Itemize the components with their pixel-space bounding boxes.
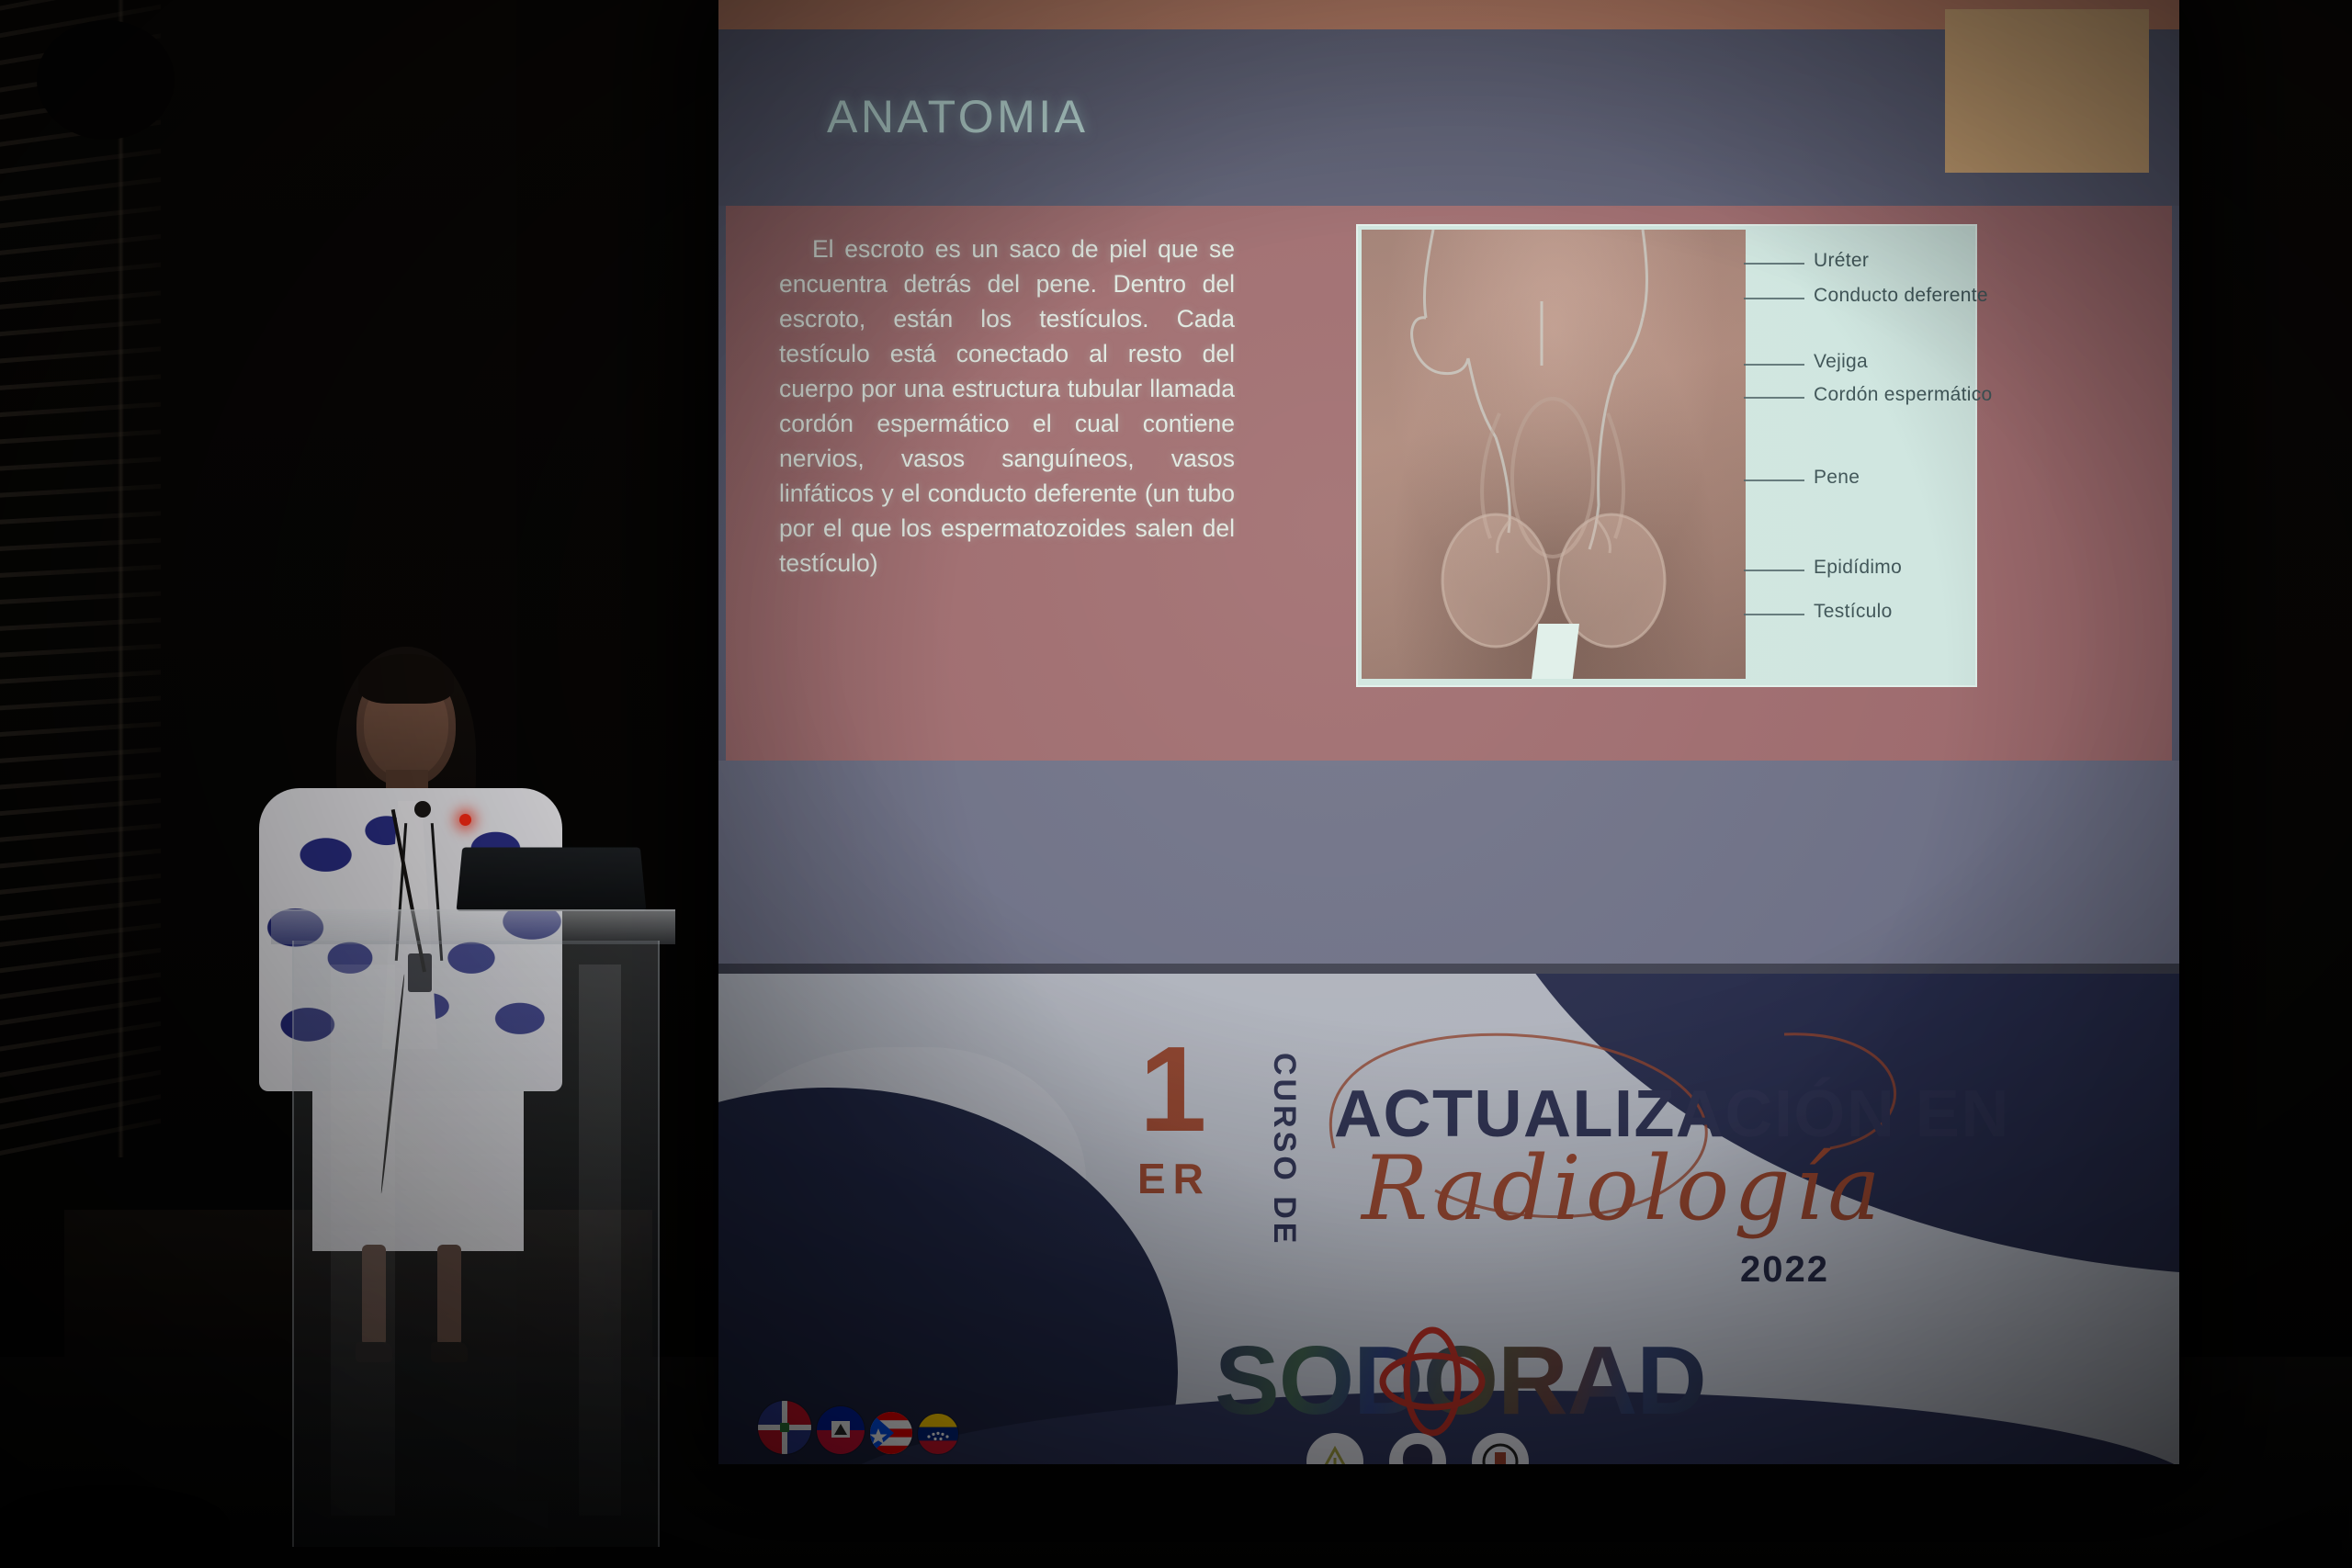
anatomy-label-epididimo: Epidídimo — [1814, 557, 1902, 579]
wall-slat — [0, 892, 161, 927]
wall-slat — [0, 794, 161, 820]
slide-lower-band — [718, 761, 2179, 964]
podium-top-surface — [271, 909, 675, 944]
ordinal-suffix: ER — [1137, 1154, 1211, 1203]
wall-slat — [0, 916, 161, 953]
crest-emblem-badge — [1389, 1433, 1446, 1464]
wall-slat — [0, 199, 161, 234]
wall-slat — [0, 480, 161, 501]
haiti-flag — [816, 1405, 865, 1455]
venezuela-flag — [917, 1413, 959, 1455]
audience-head — [37, 20, 175, 140]
wall-slat — [0, 640, 161, 660]
wall-slat — [0, 535, 161, 554]
anatomy-line-art — [1362, 230, 1746, 679]
wall-slat — [0, 818, 161, 847]
anatomy-label-vejiga: Vejiga — [1814, 351, 1868, 373]
wall-slat — [0, 342, 161, 367]
wall-slat — [0, 867, 161, 900]
wall-slat — [0, 170, 161, 208]
wall-slat — [0, 370, 161, 394]
microphone-capsule — [414, 801, 431, 818]
anatomy-label-cordon-espermatico: Cordón espermático — [1814, 384, 1993, 406]
anatomy-highlight-marker — [1532, 624, 1579, 679]
wall-slat — [0, 1084, 161, 1140]
wall-slat — [0, 768, 161, 794]
anatomy-figure: Uréter Conducto deferente Vejiga Cordón … — [1356, 224, 1977, 687]
wall-lattice-decor — [0, 0, 161, 1157]
triangle-emblem-badge — [1306, 1433, 1363, 1464]
leader-line — [1744, 263, 1804, 265]
wall-slat — [0, 667, 161, 687]
leader-line — [1744, 479, 1804, 481]
wall-slat — [0, 454, 161, 474]
wall-slat — [0, 398, 161, 421]
wall-slat — [0, 615, 161, 634]
anatomy-label-pene: Pene — [1814, 467, 1860, 489]
leader-line — [1744, 570, 1804, 571]
wall-slat — [0, 314, 161, 341]
anatomy-label-conducto-deferente: Conducto deferente — [1814, 285, 1988, 307]
wall-slat — [0, 588, 161, 607]
wall-slat — [0, 508, 161, 527]
projection-screen: ANATOMIA El escroto es un saco de piel q… — [718, 0, 2179, 1464]
slide-paragraph: El escroto es un saco de piel que se enc… — [779, 231, 1235, 581]
ordinal-number: 1 — [1139, 1040, 1203, 1139]
event-subject-script: Radiología — [1362, 1137, 1885, 1240]
presentation-slide: ANATOMIA El escroto es un saco de piel q… — [718, 0, 2179, 964]
wall-slat — [0, 693, 161, 714]
anatomy-illustration-image — [1362, 230, 1746, 679]
shield-emblem-badge — [1472, 1433, 1529, 1464]
wall-slat — [0, 717, 161, 740]
wall-slat — [0, 941, 161, 980]
leader-line — [1744, 614, 1804, 615]
wall-slat — [0, 743, 161, 767]
podium-reflection-left — [331, 964, 395, 1516]
dominican-republic-flag — [757, 1400, 812, 1455]
anatomy-label-ureter: Uréter — [1814, 250, 1869, 272]
wall-slat — [0, 843, 161, 874]
wall-slat — [0, 228, 161, 261]
speaker-hair-front — [358, 654, 454, 704]
atom-orbital-icon — [1370, 1319, 1495, 1444]
event-year: 2022 — [1740, 1249, 1829, 1291]
event-branding-banner: 1 ER CURSO DE ACTUALIZACIÓN EN Radiologí… — [718, 974, 2179, 1464]
slide-accent-block — [1945, 9, 2149, 173]
acrylic-podium — [303, 909, 643, 1552]
puerto-rico-flag — [869, 1411, 913, 1455]
slide-title: ANATOMIA — [827, 90, 1089, 143]
microphone-led-indicator — [459, 814, 471, 826]
wall-slat — [0, 286, 161, 314]
auditorium-scene: ANATOMIA El escroto es un saco de piel q… — [0, 0, 2352, 1568]
wall-slat — [0, 257, 161, 288]
slide-content-area: El escroto es un saco de piel que se enc… — [726, 206, 2172, 761]
podium-laptop — [457, 848, 647, 911]
country-flag-row — [757, 1400, 959, 1455]
wall-slat — [0, 1108, 161, 1157]
partner-badge-row — [1306, 1433, 1529, 1464]
wall-slat — [0, 426, 161, 447]
audience-shoulders — [0, 1485, 230, 1568]
wall-slat — [0, 561, 161, 581]
leader-line — [1744, 298, 1804, 299]
leader-line — [1744, 397, 1804, 399]
leader-line — [1744, 364, 1804, 366]
wall-slat — [0, 141, 161, 181]
anatomy-label-testiculo: Testículo — [1814, 601, 1893, 623]
podium-reflection-right — [579, 964, 621, 1516]
